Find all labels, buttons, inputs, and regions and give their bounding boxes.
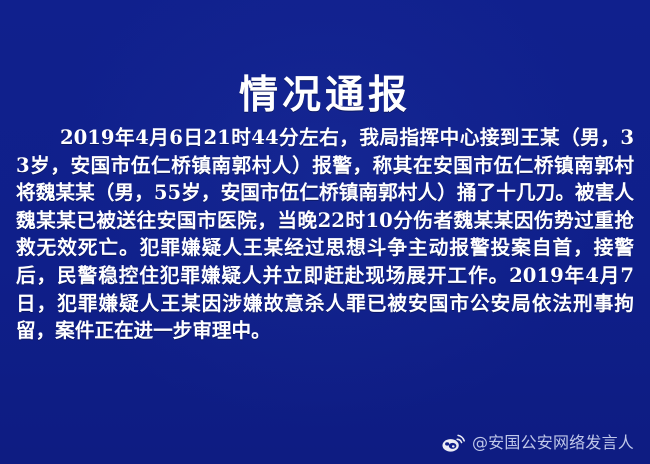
page-title: 情况通报 xyxy=(239,74,411,117)
watermark-handle: @安国公安网络发言人 xyxy=(472,435,634,451)
body-container: 2019年4月6日21时44分左右，我局指挥中心接到王某（男，33岁，安国市伍仁… xyxy=(16,124,634,345)
announcement-poster: 情况通报 2019年4月6日21时44分左右，我局指挥中心接到王某（男，33岁，… xyxy=(0,0,650,464)
weibo-icon xyxy=(442,433,465,452)
announcement-body: 2019年4月6日21时44分左右，我局指挥中心接到王某（男，33岁，安国市伍仁… xyxy=(16,124,634,345)
watermark: @安国公安网络发言人 xyxy=(442,433,634,452)
